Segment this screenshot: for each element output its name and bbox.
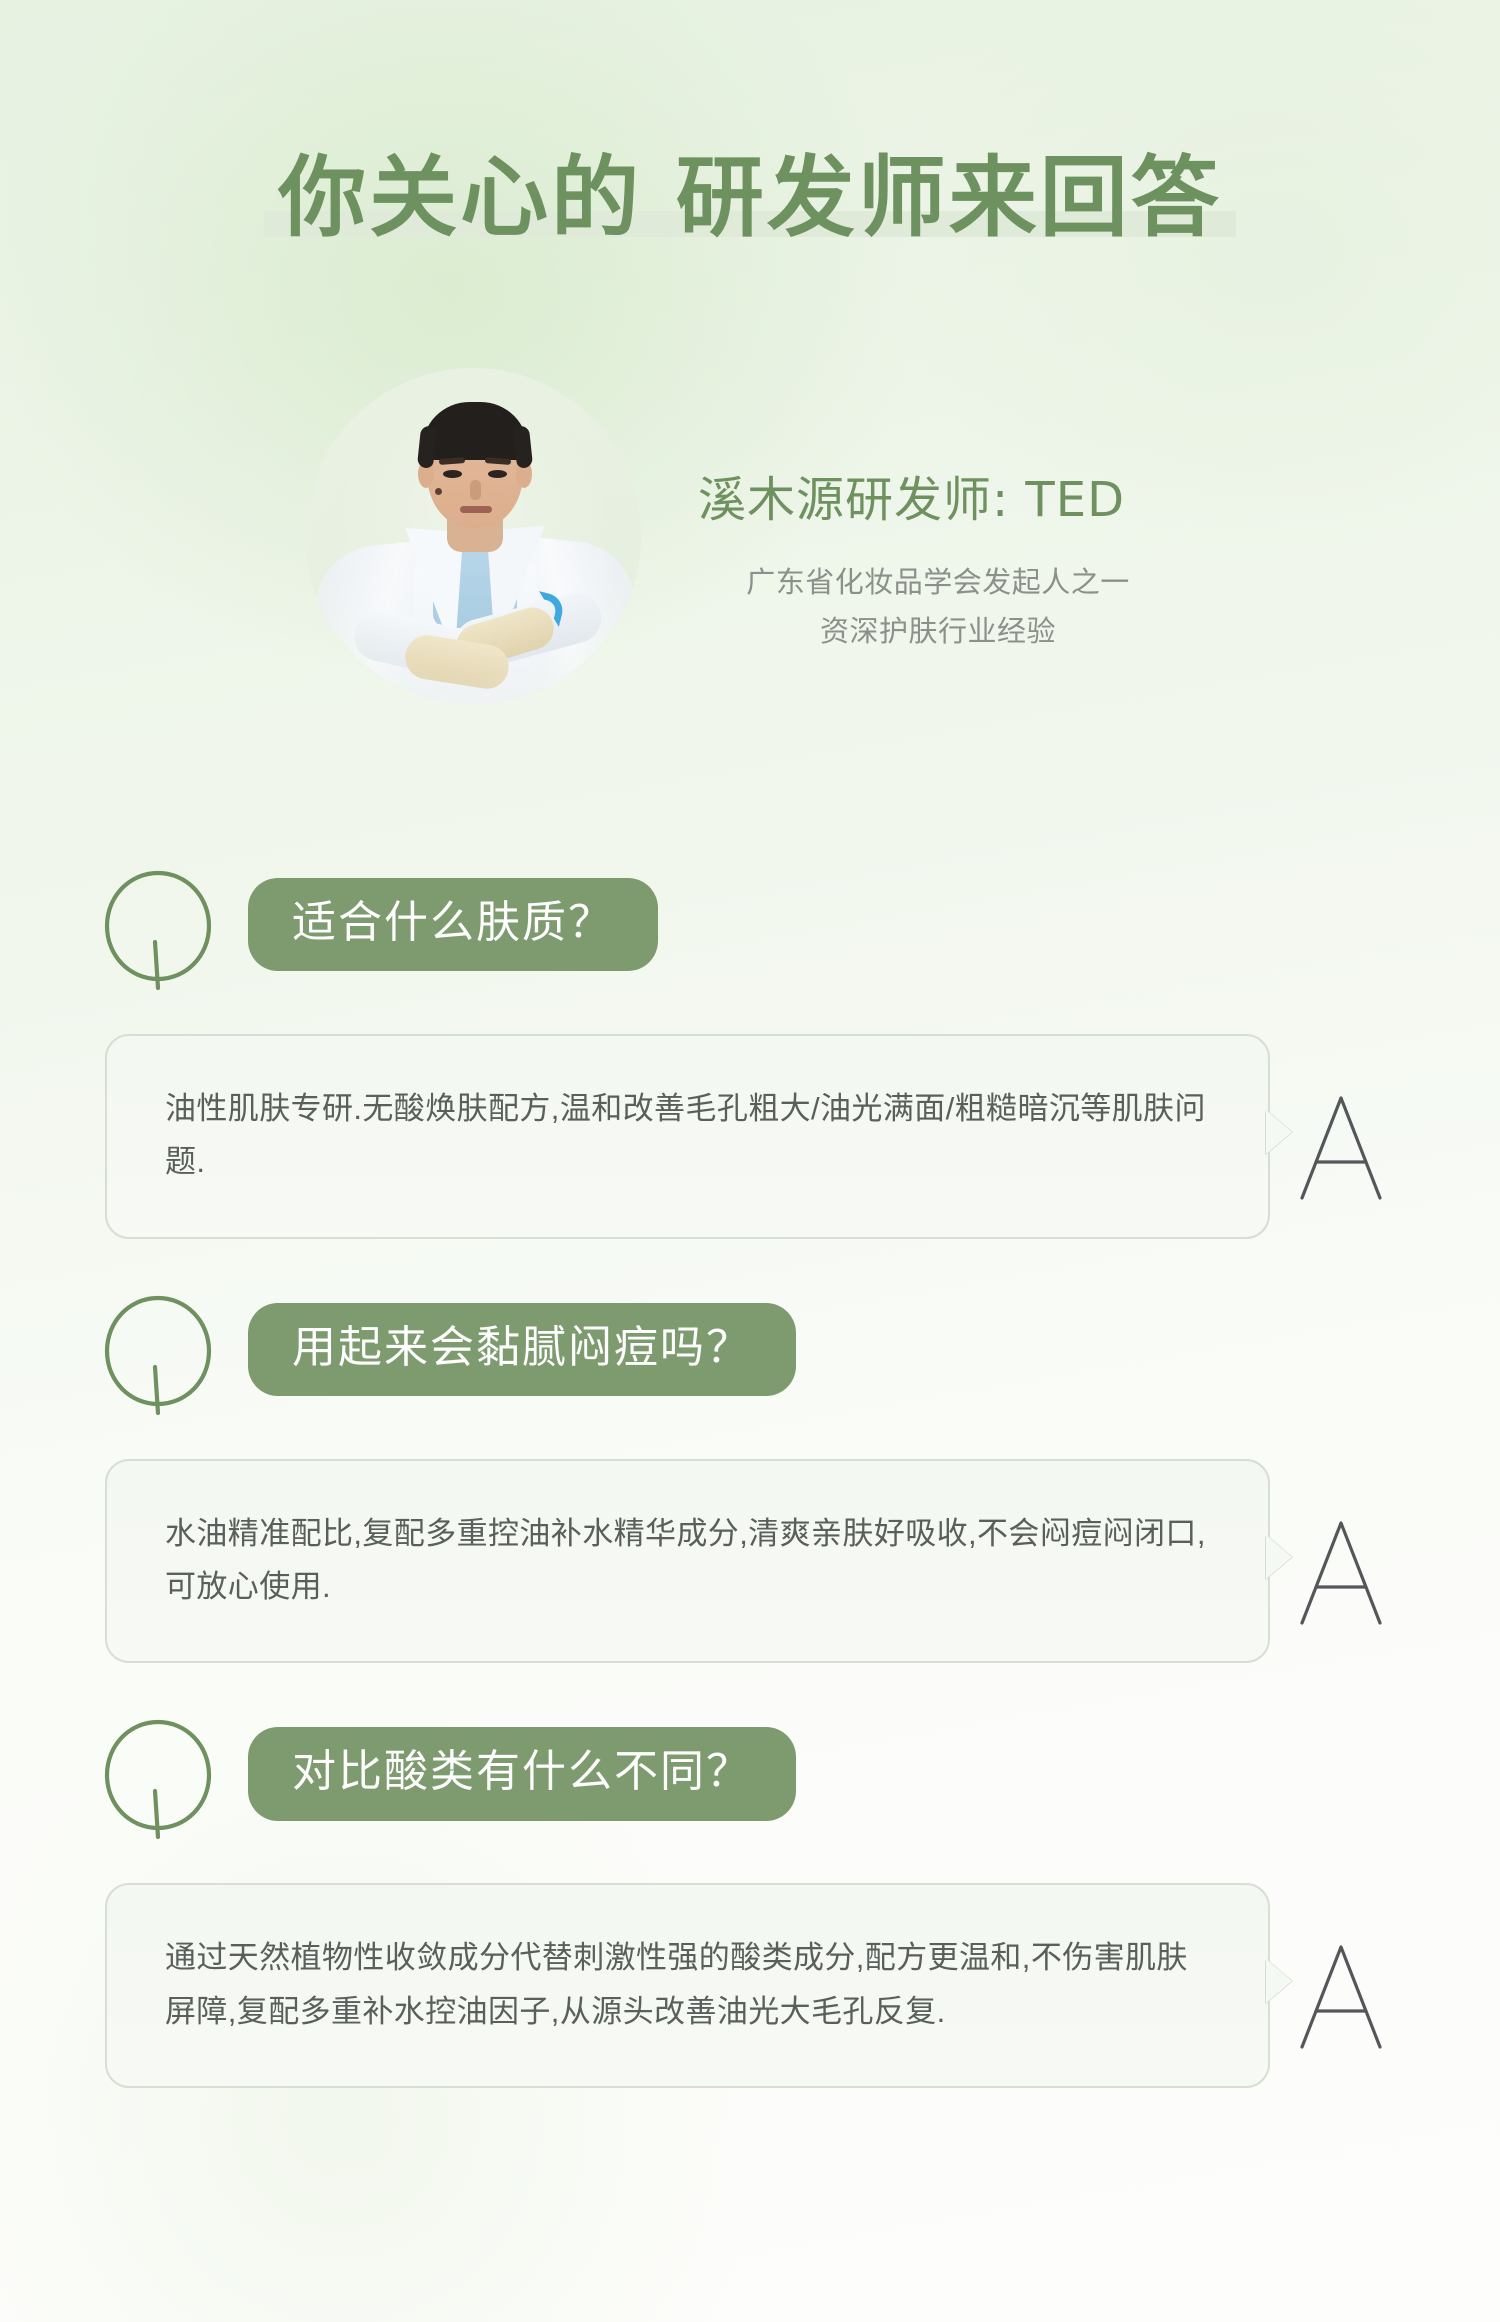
nose xyxy=(470,480,481,500)
answer-text: 通过天然植物性收敛成分代替刺激性强的酸类成分,配方更温和,不伤害肌肤屏障,复配多… xyxy=(165,1931,1210,2038)
faq-page: 你关心的 研发师来回答 xyxy=(0,0,1500,2322)
answer-row: 水油精准配比,复配多重控油补水精华成分,清爽亲肤好吸收,不会闷痘闷闭口,可放心使… xyxy=(0,1459,1500,1664)
answer-text: 油性肌肤专研.无酸焕肤配方,温和改善毛孔粗大/油光满面/粗糙暗沉等肌肤问题. xyxy=(165,1082,1210,1189)
answer-row: 通过天然植物性收敛成分代替刺激性强的酸类成分,配方更温和,不伤害肌肤屏障,复配多… xyxy=(0,1883,1500,2088)
eye-right xyxy=(488,470,507,478)
qa-block: 对比酸类有什么不同？ 通过天然植物性收敛成分代替刺激性强的酸类成分,配方更温和,… xyxy=(0,1711,1500,2088)
q-letter-icon xyxy=(100,868,216,990)
answer-bubble: 通过天然植物性收敛成分代替刺激性强的酸类成分,配方更温和,不伤害肌肤屏障,复配多… xyxy=(105,1883,1270,2088)
qa-block: 用起来会黏腻闷痘吗？ 水油精准配比,复配多重控油补水精华成分,清爽亲肤好吸收,不… xyxy=(0,1287,1500,1664)
doctor-name: 溪木源研发师: TED xyxy=(698,472,1290,530)
qa-list: 适合什么肤质？ 油性肌肤专研.无酸焕肤配方,温和改善毛孔粗大/油光满面/粗糙暗沉… xyxy=(0,862,1500,2136)
question-pill[interactable]: 对比酸类有什么不同？ xyxy=(248,1727,796,1820)
page-title: 你关心的 研发师来回答 xyxy=(0,150,1500,245)
qa-block: 适合什么肤质？ 油性肌肤专研.无酸焕肤配方,温和改善毛孔粗大/油光满面/粗糙暗沉… xyxy=(0,862,1500,1239)
a-letter-icon xyxy=(1296,1517,1386,1629)
question-pill[interactable]: 适合什么肤质？ xyxy=(248,878,658,971)
question-row: 对比酸类有什么不同？ xyxy=(0,1711,1500,1841)
answer-bubble-tail xyxy=(1266,1535,1292,1579)
doctor-text-block: 溪木源研发师: TED 广东省化妆品学会发起人之一 资深护肤行业经验 xyxy=(690,360,1290,656)
hair-side-right xyxy=(513,425,533,468)
answer-row: 油性肌肤专研.无酸焕肤配方,温和改善毛孔粗大/油光满面/粗糙暗沉等肌肤问题. xyxy=(0,1034,1500,1239)
question-row: 用起来会黏腻闷痘吗？ xyxy=(0,1287,1500,1417)
page-title-text: 你关心的 研发师来回答 xyxy=(278,150,1222,245)
mole xyxy=(435,488,442,495)
answer-bubble: 水油精准配比,复配多重控油补水精华成分,清爽亲肤好吸收,不会闷痘闷闭口,可放心使… xyxy=(105,1459,1270,1664)
q-letter-icon xyxy=(100,1293,216,1415)
a-letter-icon xyxy=(1296,1941,1386,2053)
doctor-credential-line-1: 广东省化妆品学会发起人之一 xyxy=(690,560,1186,607)
doctor-intro: 溪木源研发师: TED 广东省化妆品学会发起人之一 资深护肤行业经验 xyxy=(0,360,1500,780)
answer-bubble-tail xyxy=(1266,1959,1292,2003)
a-letter-icon xyxy=(1296,1092,1386,1204)
question-pill[interactable]: 用起来会黏腻闷痘吗？ xyxy=(248,1303,796,1396)
avatar xyxy=(305,368,641,704)
q-letter-icon xyxy=(100,1717,216,1839)
page-title-inner: 你关心的 研发师来回答 xyxy=(278,150,1222,245)
mouth xyxy=(460,506,492,513)
question-row: 适合什么肤质？ xyxy=(0,862,1500,992)
answer-bubble-tail xyxy=(1266,1110,1292,1154)
answer-text: 水油精准配比,复配多重控油补水精华成分,清爽亲肤好吸收,不会闷痘闷闭口,可放心使… xyxy=(165,1507,1210,1614)
answer-bubble: 油性肌肤专研.无酸焕肤配方,温和改善毛孔粗大/油光满面/粗糙暗沉等肌肤问题. xyxy=(105,1034,1270,1239)
hair xyxy=(422,402,528,460)
eye-left xyxy=(443,470,462,478)
doctor-credential-line-2: 资深护肤行业经验 xyxy=(690,609,1186,656)
